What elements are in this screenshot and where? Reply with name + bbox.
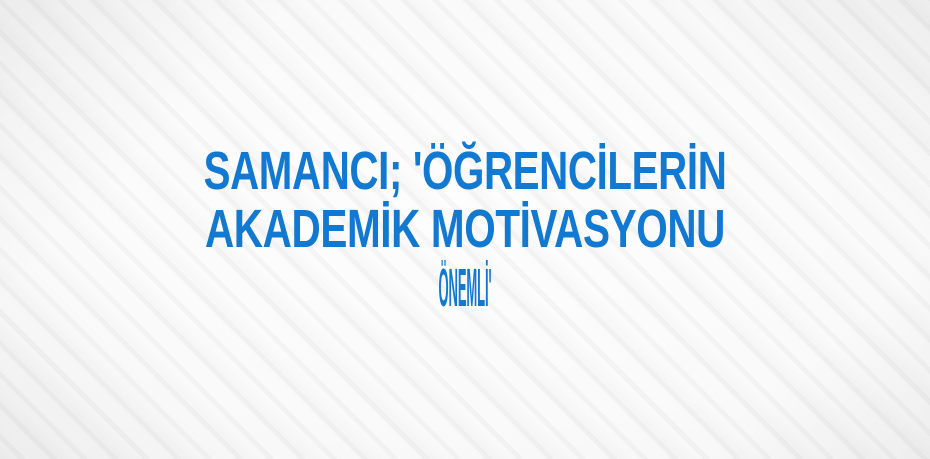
headline-line-2: AKADEMİK MOTİVASYONU — [136, 200, 794, 258]
headline-block: SAMANCI; 'ÖĞRENCİLERİN AKADEMİK MOTİVASY… — [0, 0, 930, 459]
headline-line-1: SAMANCI; 'ÖĞRENCİLERİN — [138, 142, 793, 200]
news-headline-card: SAMANCI; 'ÖĞRENCİLERİN AKADEMİK MOTİVASY… — [0, 0, 930, 459]
headline-line-3: ÖNEMLİ' — [359, 259, 571, 317]
